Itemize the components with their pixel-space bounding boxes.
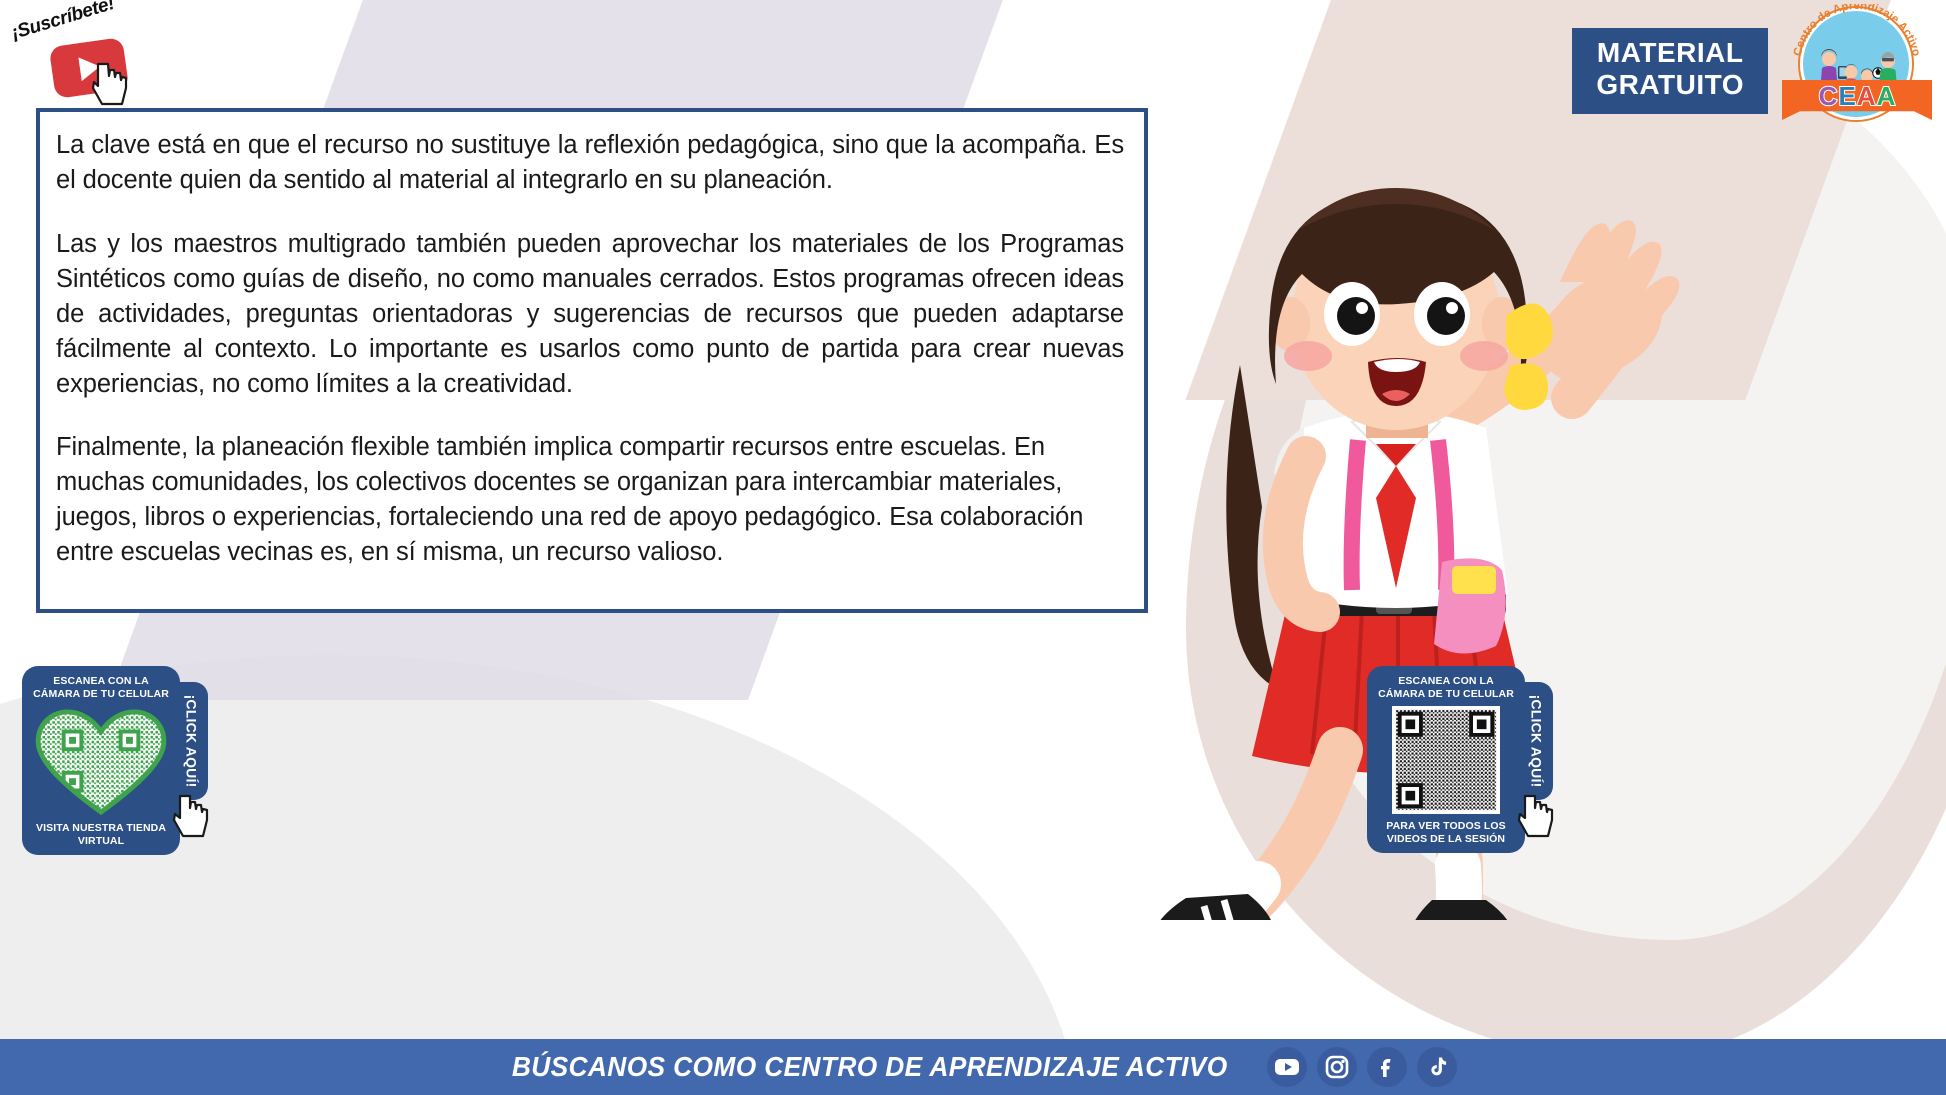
content-text-card: La clave está en que el recurso no susti… [36,108,1148,613]
tiktok-icon[interactable] [1417,1047,1457,1087]
facebook-icon[interactable] [1367,1047,1407,1087]
logo-letter-a1: A [1857,83,1876,109]
paragraph-3: Finalmente, la planeación flexible tambi… [56,430,1124,570]
material-gratuito-badge: MATERIAL GRATUITO [1572,28,1768,114]
footer-text: BÚSCANOS COMO CENTRO DE APRENDIZAJE ACTI… [512,1051,1228,1083]
material-badge-line2: GRATUITO [1596,69,1744,101]
square-qr-code [1392,706,1500,814]
qr-left-heading: ESCANEA CON LA CÁMARA DE TU CELULAR [30,675,172,700]
pointer-hand-icon-right [1517,794,1557,838]
pointer-hand-icon [92,60,132,106]
qr-card-store[interactable]: ESCANEA CON LA CÁMARA DE TU CELULAR VISI… [22,666,180,855]
qr-right-footer: PARA VER TODOS LOS VIDEOS DE LA SESIÓN [1375,820,1517,845]
paragraph-1: La clave está en que el recurso no susti… [56,128,1124,198]
qr-card-videos[interactable]: ESCANEA CON LA CÁMARA DE TU CELULAR PARA… [1367,666,1525,853]
logo-letter-c: C [1819,83,1838,109]
social-links [1267,1047,1457,1087]
instagram-icon[interactable] [1317,1047,1357,1087]
logo-letter-e: E [1838,83,1855,109]
click-here-tab-right[interactable]: ¡CLICK AQUÍ! [1519,682,1553,800]
click-here-label-left: ¡CLICK AQUÍ! [183,695,199,788]
youtube-icon[interactable] [1267,1047,1307,1087]
click-here-label-right: ¡CLICK AQUÍ! [1528,695,1544,788]
ceaa-logo: Centro de Aprendizaje Activo C E A A [1782,4,1932,124]
qr-left-footer: VISITA NUESTRA TIENDA VIRTUAL [30,822,172,847]
subscribe-badge[interactable]: ¡Suscríbete! [4,6,174,106]
qr-right-heading: ESCANEA CON LA CÁMARA DE TU CELULAR [1375,675,1517,700]
paragraph-2: Las y los maestros multigrado también pu… [56,227,1124,402]
footer-bar: BÚSCANOS COMO CENTRO DE APRENDIZAJE ACTI… [0,1039,1946,1095]
pointer-hand-icon-left [172,794,212,838]
subscribe-label: ¡Suscríbete! [9,0,117,45]
logo-letter-a2: A [1877,83,1896,109]
material-badge-line1: MATERIAL [1596,37,1744,69]
heart-qr-code [31,706,171,816]
click-here-tab-left[interactable]: ¡CLICK AQUÍ! [174,682,208,800]
